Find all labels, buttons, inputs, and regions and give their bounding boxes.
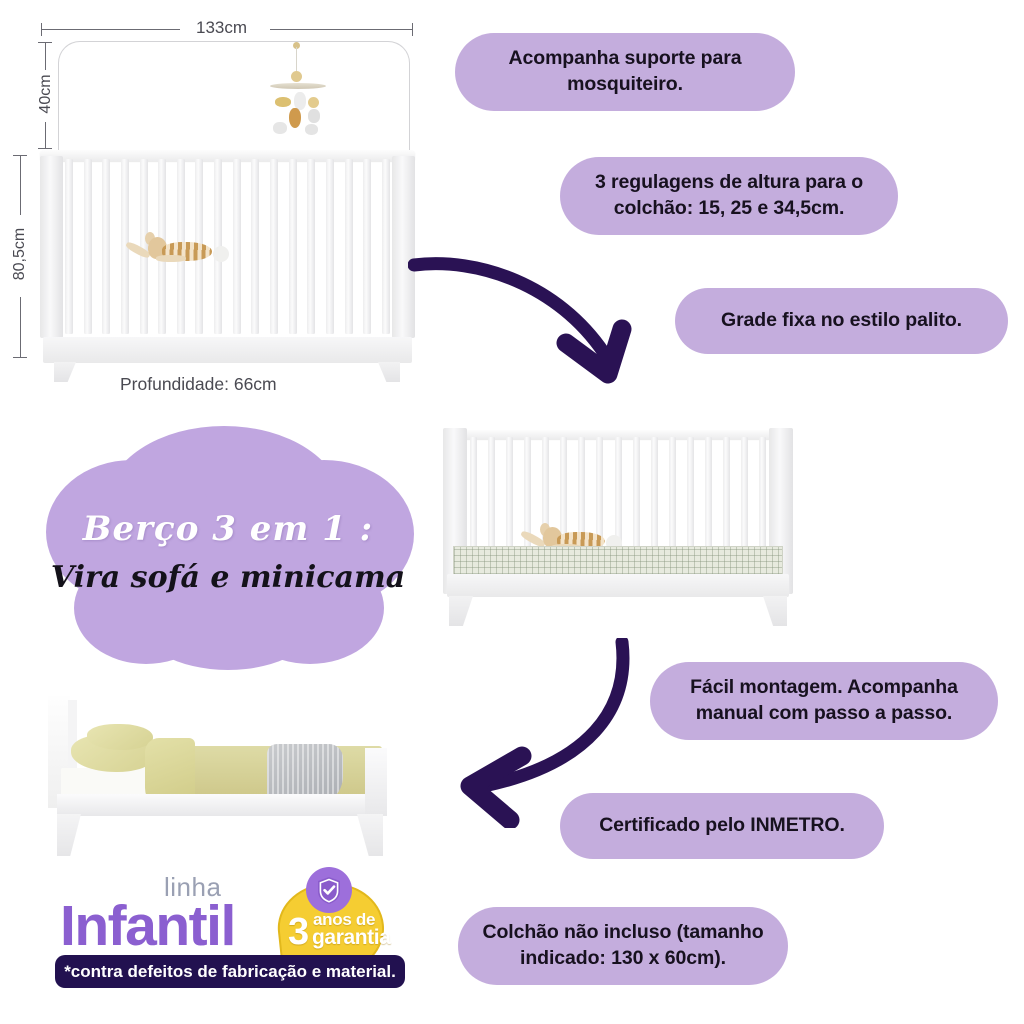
- mobile-ornament-gold-left: [275, 97, 291, 107]
- sofa-slat: [488, 437, 495, 547]
- width-dim-label: 133cm: [196, 18, 247, 38]
- logo-infantil-text: Infantil: [60, 893, 235, 959]
- crib-slat: [65, 159, 73, 334]
- crib-left-post: [40, 156, 63, 338]
- shield-check-icon: [306, 867, 352, 913]
- feature-bubble-height-adjust: 3 regulagens de altura para o colchão: 1…: [560, 157, 898, 235]
- crib-foot-left: [54, 362, 76, 382]
- depth-label: Profundidade: 66cm: [120, 374, 277, 395]
- infographic-canvas: 133cm 40cm 80,5cm: [0, 0, 1024, 1024]
- sofa-mattress: [453, 546, 783, 575]
- mini-bed-pillow-back: [87, 724, 153, 750]
- sofa-slat: [705, 437, 712, 547]
- mini-bed-leg-right: [357, 814, 383, 856]
- plush-toy: [125, 232, 235, 268]
- crib-illustration: 133cm 40cm 80,5cm: [0, 0, 440, 400]
- crib-body: [40, 150, 415, 365]
- mobile-crossbar: [270, 83, 326, 89]
- crib-slat: [345, 159, 353, 334]
- plush-toy-limb: [156, 255, 186, 262]
- crib-slat: [102, 159, 110, 334]
- mini-bed-leg-left: [57, 814, 81, 856]
- sofa-slat: [723, 437, 730, 547]
- crib-slat: [307, 159, 315, 334]
- warranty-badge-number: 3: [288, 913, 309, 951]
- warranty-badge-garantia: garantia: [312, 927, 391, 948]
- crib-slat: [326, 159, 334, 334]
- sofa-slat: [506, 437, 513, 547]
- feature-bubble-text: 3 regulagens de altura para o colchão: 1…: [580, 170, 878, 221]
- sofa-slat: [669, 437, 676, 547]
- mini-bed-side-rail: [57, 794, 387, 816]
- sofa-bed-illustration: [435, 418, 810, 646]
- width-dim-tick-right: [412, 23, 413, 36]
- feature-bubble-mattress-not-included: Colchão não incluso (tamanho indicado: 1…: [458, 907, 788, 985]
- mobile-ornament-star-right: [305, 124, 318, 135]
- brand-logo-block: linha Infantil 3 anos de garantia *contr…: [60, 865, 410, 1000]
- crib-slat: [363, 159, 371, 334]
- feature-bubble-fixed-rail: Grade fixa no estilo palito.: [675, 288, 1008, 354]
- feature-bubble-text: Acompanha suporte para mosquiteiro.: [475, 46, 775, 97]
- sofa-foot-left: [449, 596, 473, 626]
- net-dim-label: 40cm: [37, 71, 55, 117]
- crib-slat: [84, 159, 92, 334]
- feature-bubble-text: Colchão não incluso (tamanho indicado: 1…: [478, 920, 768, 971]
- curved-arrow-down-right-icon: [408, 243, 658, 395]
- feature-bubble-text: Fácil montagem. Acompanha manual com pas…: [670, 675, 978, 726]
- mobile-ornament-gold-right: [308, 97, 319, 108]
- net-dim-tick-top: [38, 42, 52, 43]
- plush-toy-ball: [213, 246, 229, 262]
- feature-bubble-text: Grade fixa no estilo palito.: [721, 308, 962, 334]
- crib-base-apron: [43, 337, 412, 363]
- crib-dim-tick-top: [13, 155, 27, 156]
- width-dim-tick-left: [41, 23, 42, 36]
- mobile-ornament-bear: [289, 108, 301, 128]
- mosquito-net-frame: [58, 41, 410, 154]
- warranty-disclaimer-bar: *contra defeitos de fabricação e materia…: [55, 955, 405, 988]
- feature-bubble-text: Certificado pelo INMETRO.: [599, 813, 845, 839]
- mobile-mid-bead: [291, 71, 302, 82]
- sofa-slat: [687, 437, 694, 547]
- feature-bubble-easy-assembly: Fácil montagem. Acompanha manual com pas…: [650, 662, 998, 740]
- feature-bubble-mosquito: Acompanha suporte para mosquiteiro.: [455, 33, 795, 111]
- mobile-cord: [296, 47, 297, 73]
- warranty-disclaimer-text: *contra defeitos de fabricação e materia…: [64, 962, 396, 982]
- feature-bubble-inmetro: Certificado pelo INMETRO.: [560, 793, 884, 859]
- cloud-callout: Berço 3 em 1 : Vira sofá e minicama: [28, 412, 428, 677]
- crib-dim-label: 80,5cm: [11, 222, 29, 286]
- sofa-base-apron: [447, 574, 789, 597]
- mini-bed-illustration: [35, 690, 430, 875]
- crib-dim-tick-bottom: [13, 357, 27, 358]
- mobile-ornament-gray-right: [308, 109, 320, 123]
- sofa-slat: [633, 437, 640, 547]
- baby-mobile: [258, 42, 338, 152]
- mobile-ornament-star-left: [273, 122, 287, 134]
- sofa-slat: [470, 437, 477, 547]
- mini-bed-footboard: [365, 748, 387, 816]
- crib-slat: [251, 159, 259, 334]
- crib-slat: [289, 159, 297, 334]
- sofa-foot-right: [763, 596, 787, 626]
- sofa-slat: [651, 437, 658, 547]
- crib-slat: [382, 159, 390, 334]
- sofa-slat: [759, 437, 766, 547]
- crib-slat: [270, 159, 278, 334]
- sofa-slat: [741, 437, 748, 547]
- crib-foot-right: [378, 362, 400, 382]
